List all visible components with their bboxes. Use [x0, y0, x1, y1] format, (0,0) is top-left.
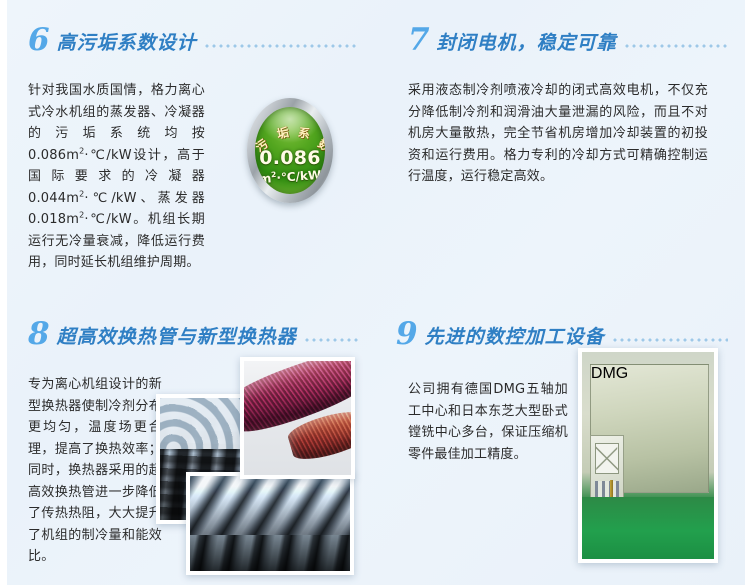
- cnc-screen: [595, 443, 618, 474]
- section-8-number: 8: [28, 319, 50, 350]
- photo-cnc-machining-center: DMG: [578, 348, 718, 563]
- section-6-body: 针对我国水质国情，格力离心式冷水机组的蒸发器、冷凝器的污垢系统均按0.086m2…: [28, 80, 205, 274]
- badge-green-face: 污 垢 系 数 0.086 m2·℃/kW: [255, 107, 325, 194]
- badge-arc-char: 垢: [275, 123, 290, 142]
- section-8-heading: 8 超高效换热管与新型换热器: [28, 318, 358, 349]
- section-6-number: 6: [28, 25, 50, 56]
- section-7-heading: 7 封闭电机，稳定可靠: [408, 24, 728, 55]
- section-6-heading: 6 高污垢系数设计: [28, 24, 358, 55]
- copper-tube-texture: [244, 361, 351, 475]
- brochure-page: 6 高污垢系数设计 针对我国水质国情，格力离心式冷水机组的蒸发器、冷凝器的污垢系…: [0, 0, 752, 585]
- helical-fin-texture: [190, 476, 350, 571]
- section-7-title: 封闭电机，稳定可靠: [437, 34, 617, 53]
- section-9-title: 先进的数控加工设备: [425, 328, 605, 347]
- cnc-control-panel: [590, 435, 624, 505]
- section-8-body: 专为离心机组设计的新型换热器使制冷剂分布更均匀，温度场更合理，提高了换热效率；同…: [28, 374, 162, 568]
- heading-dots-decoration: [613, 335, 728, 345]
- fouling-factor-badge: 污 垢 系 数 0.086 m2·℃/kW: [247, 98, 333, 203]
- section-9-number: 9: [396, 319, 418, 350]
- badge-arc-text: 污 垢 系 数: [255, 120, 325, 148]
- badge-arc-char: 系: [297, 123, 312, 142]
- section-8-title: 超高效换热管与新型换热器: [57, 328, 297, 347]
- heading-dots-decoration: [625, 41, 728, 51]
- section-9-body: 公司拥有德国DMG五轴加工中心和日本东芝大型卧式镗铣中心多台，保证压缩机零件最佳…: [408, 379, 568, 465]
- cnc-machine-texture: DMG: [582, 352, 714, 559]
- factory-floor: [582, 497, 714, 559]
- section-7-number: 7: [408, 25, 430, 56]
- section-7-body: 采用液态制冷剂喷液冷却的闭式高效电机，不仅充分降低制冷剂和润滑油大量泄漏的风险，…: [408, 80, 708, 188]
- photo-helical-finned-tube: [186, 472, 354, 575]
- heading-dots-decoration: [305, 335, 358, 345]
- section-6-title: 高污垢系数设计: [57, 34, 197, 53]
- section-9-heading: 9 先进的数控加工设备: [396, 318, 728, 349]
- heading-dots-decoration: [205, 41, 358, 51]
- photo-heat-exchange-tubes: [240, 357, 355, 479]
- badge-value: 0.086: [255, 147, 325, 169]
